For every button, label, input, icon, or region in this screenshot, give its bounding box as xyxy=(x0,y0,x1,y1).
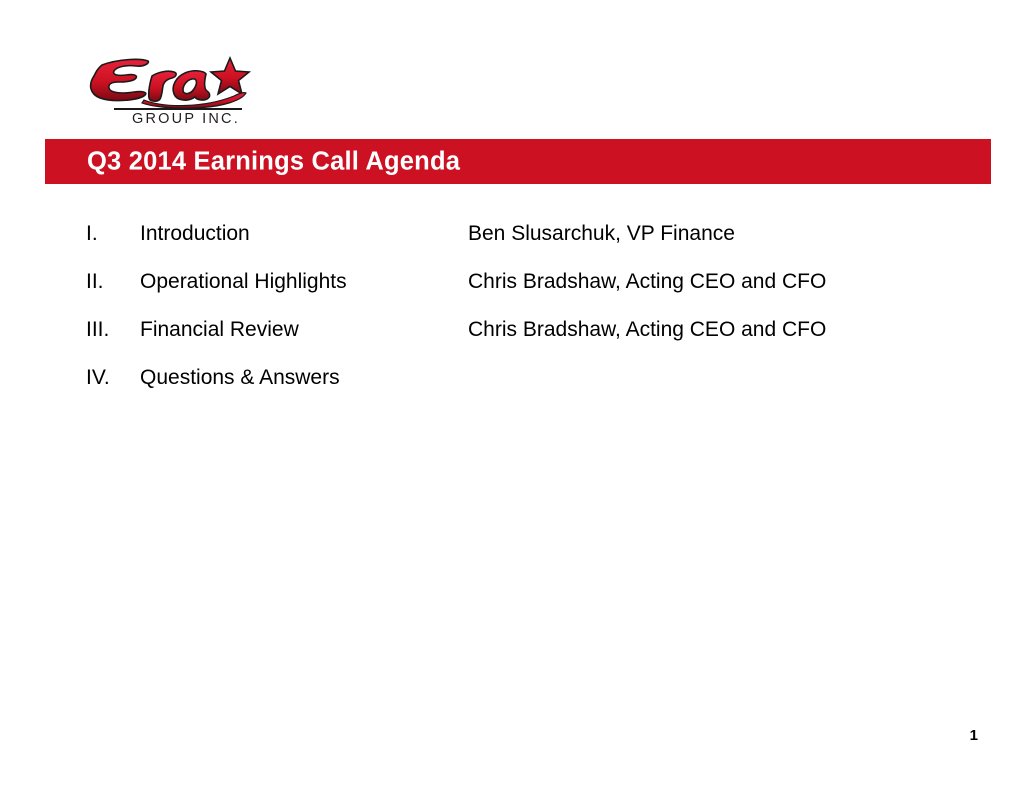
agenda-item-label: Introduction xyxy=(140,210,250,258)
agenda-item-speaker: Ben Slusarchuk, VP Finance xyxy=(468,210,735,258)
logo-divider xyxy=(114,108,242,110)
star-icon xyxy=(211,58,249,94)
agenda-row: III. Financial Review Chris Bradshaw, Ac… xyxy=(86,306,966,354)
agenda-item-number: I. xyxy=(86,210,138,258)
agenda-item-number: III. xyxy=(86,306,138,354)
agenda-item-label: Financial Review xyxy=(140,306,299,354)
agenda-item-number: II. xyxy=(86,258,138,306)
agenda-list: I. Introduction Ben Slusarchuk, VP Finan… xyxy=(86,210,966,402)
slide-title-bar: Q3 2014 Earnings Call Agenda xyxy=(45,139,991,184)
logo-subtitle: GROUP INC. xyxy=(112,111,260,127)
agenda-row: IV. Questions & Answers xyxy=(86,354,966,402)
agenda-row: I. Introduction Ben Slusarchuk, VP Finan… xyxy=(86,210,966,258)
page-number: 1 xyxy=(970,727,978,744)
agenda-item-number: IV. xyxy=(86,354,138,402)
agenda-item-label: Operational Highlights xyxy=(140,258,347,306)
era-wordmark-icon xyxy=(84,52,260,108)
agenda-row: II. Operational Highlights Chris Bradsha… xyxy=(86,258,966,306)
era-group-logo: GROUP INC. xyxy=(84,52,260,130)
agenda-item-speaker: Chris Bradshaw, Acting CEO and CFO xyxy=(468,306,826,354)
slide: GROUP INC. Q3 2014 Earnings Call Agenda … xyxy=(0,0,1034,799)
page-title: Q3 2014 Earnings Call Agenda xyxy=(87,147,460,176)
agenda-item-speaker: Chris Bradshaw, Acting CEO and CFO xyxy=(468,258,826,306)
agenda-item-label: Questions & Answers xyxy=(140,354,340,402)
